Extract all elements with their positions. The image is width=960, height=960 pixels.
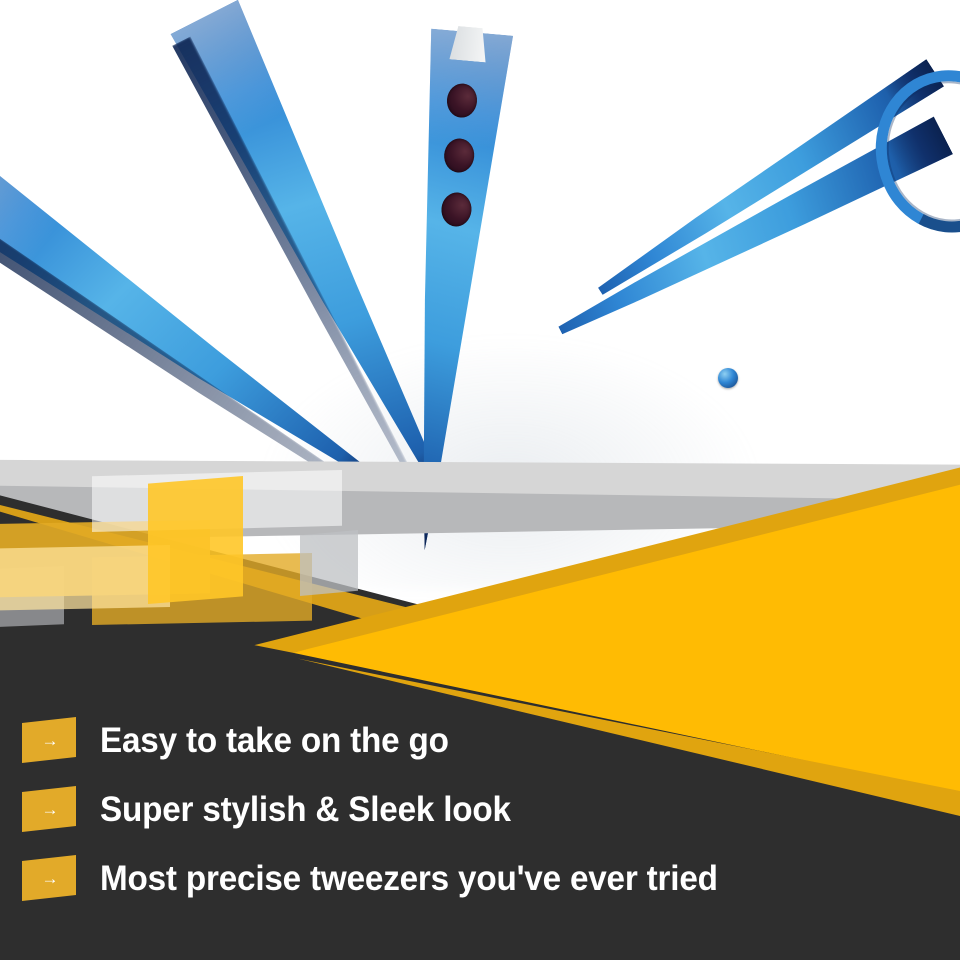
feature-item-3: → Most precise tweezers you've ever trie… xyxy=(0,844,960,912)
arrow-right-glyph: → xyxy=(22,717,76,763)
arrow-right-icon: → xyxy=(22,717,76,763)
feature-list: → Easy to take on the go → Super stylish… xyxy=(0,706,960,913)
decor-rect-yellow-tall xyxy=(148,476,243,604)
feature-item-1: → Easy to take on the go xyxy=(0,706,960,774)
arrow-right-icon: → xyxy=(22,855,76,901)
feature-item-2: → Super stylish & Sleek look xyxy=(0,775,960,843)
promo-banner: → Easy to take on the go → Super stylish… xyxy=(0,0,960,960)
feature-label-2: Super stylish & Sleek look xyxy=(100,792,511,827)
arrow-right-glyph: → xyxy=(22,786,76,832)
feature-label-1: Easy to take on the go xyxy=(100,723,449,758)
arrow-right-icon: → xyxy=(22,786,76,832)
decor-rect-cream xyxy=(0,545,170,611)
decor-rect-grey-right xyxy=(300,530,358,596)
feature-label-3: Most precise tweezers you've ever tried xyxy=(100,861,718,896)
scissors-pivot-screw xyxy=(718,368,738,388)
arrow-right-glyph: → xyxy=(22,855,76,901)
